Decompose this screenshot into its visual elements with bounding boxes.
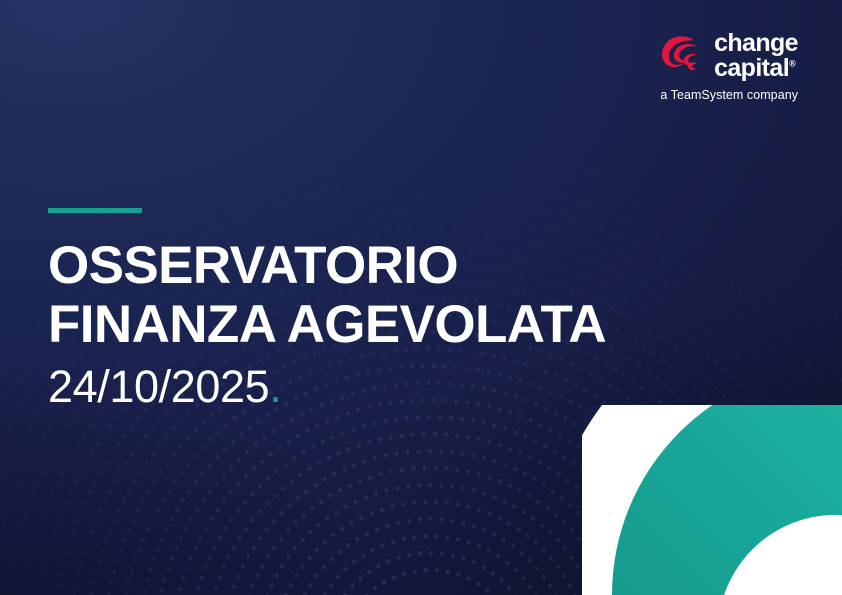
page-title-line-2: FINANZA AGEVOLATA [48, 296, 748, 355]
logo-word-change: change [714, 31, 798, 56]
logo-tagline: a TeamSystem company [660, 88, 798, 102]
slide-date-value: 24/10/2025 [48, 361, 269, 412]
page-title-line-1: OSSERVATORIO [48, 237, 748, 296]
corner-crescent-decoration [582, 405, 842, 595]
brand-logo: change capital® a TeamSystem company [657, 31, 798, 102]
slide-date-period: . [269, 361, 281, 412]
title-block: OSSERVATORIO FINANZA AGEVOLATA 24/10/202… [48, 208, 748, 410]
logo-word-capital-text: capital [714, 54, 789, 82]
change-capital-swirl-icon [657, 33, 705, 78]
registered-trademark-icon: ® [789, 58, 795, 68]
title-slide: change capital® a TeamSystem company OSS… [0, 0, 842, 595]
logo-row: change capital® [657, 31, 798, 80]
logo-word-capital: capital® [714, 56, 798, 81]
slide-date: 24/10/2025. [48, 363, 748, 410]
logo-wordmark: change capital® [714, 31, 798, 80]
accent-rule [48, 208, 142, 213]
